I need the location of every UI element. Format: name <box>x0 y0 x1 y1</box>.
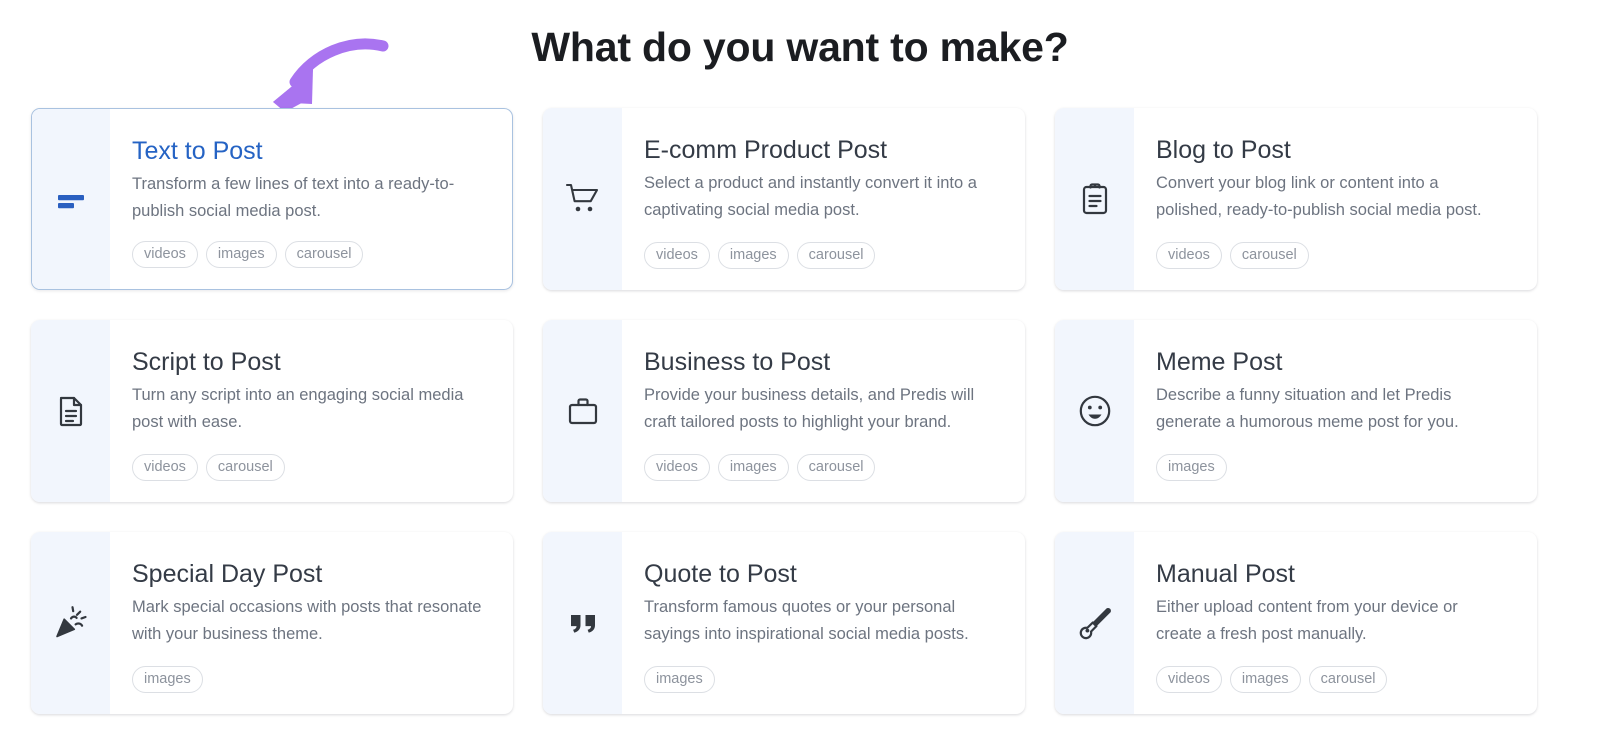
post-type-card-grid: Text to PostTransform a few lines of tex… <box>31 108 1569 714</box>
card-body: Script to PostTurn any script into an en… <box>110 320 513 502</box>
tag-images: images <box>718 454 789 481</box>
tag-images: images <box>718 242 789 269</box>
briefcase-icon <box>566 394 600 428</box>
post-type-card-script-to-post[interactable]: Script to PostTurn any script into an en… <box>31 320 513 502</box>
card-description: Provide your business details, and Predi… <box>644 382 996 435</box>
document-icon <box>54 394 88 428</box>
card-icon-panel <box>1055 108 1134 290</box>
tag-images: images <box>206 241 277 268</box>
card-body: Text to PostTransform a few lines of tex… <box>110 109 512 289</box>
party-popper-icon <box>53 605 89 641</box>
clipboard-icon <box>1078 182 1112 216</box>
tag-videos: videos <box>132 241 198 268</box>
card-description: Transform a few lines of text into a rea… <box>132 171 484 224</box>
card-description: Turn any script into an engaging social … <box>132 382 484 435</box>
card-tag-list: videoscarousel <box>1156 242 1515 269</box>
card-icon-panel <box>31 532 110 714</box>
card-title: Manual Post <box>1156 558 1515 590</box>
card-description: Convert your blog link or content into a… <box>1156 170 1508 223</box>
card-tag-list: videosimagescarousel <box>1156 666 1515 693</box>
tag-images: images <box>132 666 203 693</box>
tag-videos: videos <box>132 454 198 481</box>
card-icon-panel <box>543 108 622 290</box>
card-description: Describe a funny situation and let Predi… <box>1156 382 1508 435</box>
card-body: Business to PostProvide your business de… <box>622 320 1025 502</box>
card-description: Either upload content from your device o… <box>1156 594 1508 647</box>
card-icon-panel <box>31 320 110 502</box>
tag-videos: videos <box>1156 666 1222 693</box>
tag-carousel: carousel <box>1309 666 1388 693</box>
card-title: Special Day Post <box>132 558 491 590</box>
tag-carousel: carousel <box>797 454 876 481</box>
post-type-card-ecomm-product-post[interactable]: E-comm Product PostSelect a product and … <box>543 108 1025 290</box>
post-type-card-blog-to-post[interactable]: Blog to PostConvert your blog link or co… <box>1055 108 1537 290</box>
card-title: Quote to Post <box>644 558 1003 590</box>
shopping-cart-icon <box>564 180 602 218</box>
card-body: Blog to PostConvert your blog link or co… <box>1134 108 1537 290</box>
card-body: E-comm Product PostSelect a product and … <box>622 108 1025 290</box>
card-tag-list: videosimagescarousel <box>132 241 490 268</box>
card-title: E-comm Product Post <box>644 134 1003 166</box>
card-icon-panel <box>543 320 622 502</box>
card-description: Select a product and instantly convert i… <box>644 170 996 223</box>
post-type-chooser-page: What do you want to make? Text to PostTr… <box>0 0 1600 755</box>
card-tag-list: images <box>132 666 491 693</box>
tag-carousel: carousel <box>797 242 876 269</box>
card-body: Quote to PostTransform famous quotes or … <box>622 532 1025 714</box>
tag-carousel: carousel <box>206 454 285 481</box>
card-title: Script to Post <box>132 346 491 378</box>
post-type-card-manual-post[interactable]: Manual PostEither upload content from yo… <box>1055 532 1537 714</box>
card-body: Meme PostDescribe a funny situation and … <box>1134 320 1537 502</box>
post-type-card-quote-to-post[interactable]: Quote to PostTransform famous quotes or … <box>543 532 1025 714</box>
smiley-face-icon <box>1077 393 1113 429</box>
quotation-marks-icon <box>566 606 600 640</box>
card-tag-list: images <box>644 666 1003 693</box>
post-type-card-meme-post[interactable]: Meme PostDescribe a funny situation and … <box>1055 320 1537 502</box>
card-icon-panel <box>1055 532 1134 714</box>
card-tag-list: videosimagescarousel <box>644 454 1003 481</box>
card-body: Manual PostEither upload content from yo… <box>1134 532 1537 714</box>
page-title: What do you want to make? <box>0 20 1600 74</box>
tag-carousel: carousel <box>285 241 364 268</box>
card-tag-list: videoscarousel <box>132 454 491 481</box>
tag-carousel: carousel <box>1230 242 1309 269</box>
card-icon-panel <box>543 532 622 714</box>
card-body: Special Day PostMark special occasions w… <box>110 532 513 714</box>
tag-videos: videos <box>644 454 710 481</box>
card-title: Text to Post <box>132 135 490 167</box>
card-icon-panel <box>1055 320 1134 502</box>
tag-images: images <box>1156 454 1227 481</box>
tag-images: images <box>644 666 715 693</box>
card-title: Business to Post <box>644 346 1003 378</box>
post-type-card-text-to-post[interactable]: Text to PostTransform a few lines of tex… <box>31 108 513 290</box>
post-type-card-business-to-post[interactable]: Business to PostProvide your business de… <box>543 320 1025 502</box>
card-title: Blog to Post <box>1156 134 1515 166</box>
card-description: Transform famous quotes or your personal… <box>644 594 996 647</box>
card-tag-list: videosimagescarousel <box>644 242 1003 269</box>
tag-images: images <box>1230 666 1301 693</box>
card-title: Meme Post <box>1156 346 1515 378</box>
card-tag-list: images <box>1156 454 1515 481</box>
card-description: Mark special occasions with posts that r… <box>132 594 484 647</box>
card-icon-panel <box>32 109 110 289</box>
post-type-card-special-day-post[interactable]: Special Day PostMark special occasions w… <box>31 532 513 714</box>
tag-videos: videos <box>1156 242 1222 269</box>
paintbrush-icon <box>1077 605 1113 641</box>
tag-videos: videos <box>644 242 710 269</box>
text-lines-icon <box>54 182 88 216</box>
